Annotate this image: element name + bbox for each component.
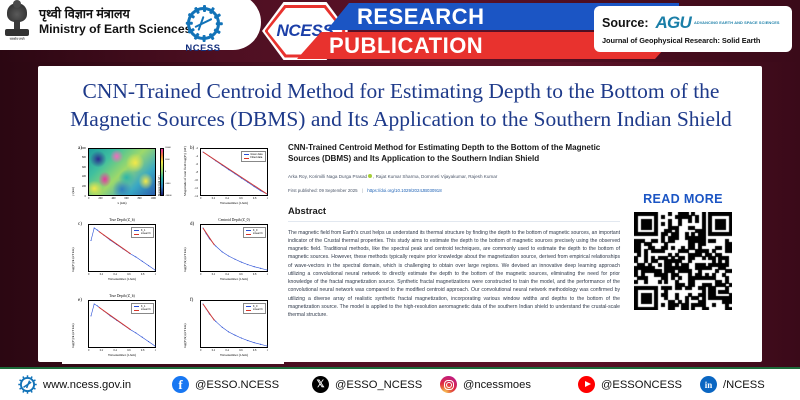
footer-item-label: @ncessmoes xyxy=(463,379,531,391)
facebook-icon[interactable]: f xyxy=(172,376,189,393)
plot-area-f: K_0Linear fit xyxy=(200,300,268,348)
x-tick: 0.6 xyxy=(239,197,242,200)
ministry-name-hindi: पृथ्वी विज्ञान मंत्रालय xyxy=(39,7,191,21)
x-tick: 0.2 xyxy=(212,349,215,352)
x-tick: 0.8 xyxy=(141,349,144,352)
x-axis-label-e: Wavenumber (1/km) xyxy=(88,353,156,357)
footer-item-label: @ESSONCESS xyxy=(601,379,682,391)
ncess-sunwheel-icon xyxy=(187,7,220,40)
plot-area-b: Given dataFitted data xyxy=(200,148,268,196)
abstract-divider xyxy=(288,221,620,222)
agu-tagline: ADVANCING EARTH AND SPACE SCIENCES xyxy=(694,21,780,26)
x-tick: 0.4 xyxy=(113,273,116,276)
read-more-label: READ MORE xyxy=(631,192,735,206)
y-tick: 1000 xyxy=(75,147,86,150)
footer-item-linkedin[interactable]: in/NCESS xyxy=(700,376,765,393)
plot-area-c: K_1Linear fit xyxy=(88,224,156,272)
banner-publication-text: PUBLICATION xyxy=(329,33,483,59)
legend-b: Given dataFitted data xyxy=(241,151,266,163)
abstract-text: The magnetic field from Earth's crust he… xyxy=(288,229,620,320)
x-tick: 1000 xyxy=(151,197,156,200)
x-twitter-icon[interactable]: 𝕏 xyxy=(312,376,329,393)
legend-swatch xyxy=(246,306,251,307)
india-emblem-icon: सत्यमेव जयते xyxy=(4,2,30,42)
x-tick: 0.8 xyxy=(141,273,144,276)
y-tick: -10 xyxy=(187,179,198,182)
linkedin-icon[interactable]: in xyxy=(700,376,717,393)
x-tick: 1 xyxy=(267,197,268,200)
footer-item-label: www.ncess.gov.in xyxy=(43,379,131,391)
ministry-name-english: Ministry of Earth Sciences xyxy=(39,22,191,37)
legend-swatch xyxy=(134,310,139,311)
x-tick: 0 xyxy=(200,273,201,276)
x-tick: 0.2 xyxy=(212,197,215,200)
footer-item-label: @ESSO_NCESS xyxy=(335,379,422,391)
banner-research-text: RESEARCH xyxy=(357,4,484,30)
panel-label-e: e) xyxy=(78,298,82,303)
x-tick: 600 xyxy=(125,197,129,200)
legend-d: K_0Linear fit xyxy=(243,227,265,239)
x-tick: 1 xyxy=(267,273,268,276)
ncess-compass-icon xyxy=(18,375,37,394)
x-ticks-f: 00.20.40.60.81 xyxy=(200,349,268,352)
panel-label-d: d) xyxy=(190,222,194,227)
figure-panel-b: b)Given dataFitted data00.20.40.60.81-14… xyxy=(174,138,282,212)
panel-title-d: Centroid Depth (Z_0) xyxy=(200,218,268,222)
colorbar-tick: -10000 xyxy=(165,195,172,197)
y-axis-label-c: log(|F|)/k (nT km) xyxy=(71,248,75,272)
x-axis-label-d: Wavenumber (1/km) xyxy=(200,277,268,281)
y-tick: 800 xyxy=(75,156,86,159)
x-tick: 0.8 xyxy=(253,273,256,276)
x-tick: 0 xyxy=(88,197,89,200)
x-axis-label-f: Wavenumber (1/km) xyxy=(200,353,268,357)
x-tick: 0.4 xyxy=(225,273,228,276)
instagram-icon[interactable] xyxy=(440,376,457,393)
figure-panel-f: f)K_0Linear fit00.20.40.60.81Wavenumber … xyxy=(174,290,282,364)
figure-panel-c: c)True Depth (Z_b)K_1Linear fit00.20.40.… xyxy=(62,214,170,288)
plot-area-d: K_0Linear fit xyxy=(200,224,268,272)
colorbar-tick: 10000 xyxy=(165,147,171,149)
paper-title: CNN-Trained Centroid Method for Estimati… xyxy=(288,142,620,165)
legend-label: Linear fit xyxy=(253,308,263,312)
source-attribution: Source: AGU ADVANCING EARTH AND SPACE SC… xyxy=(594,6,792,52)
x-axis-label-c: Wavenumber (1/km) xyxy=(88,277,156,281)
ncess-logo-text: NCESS xyxy=(185,42,220,53)
orcid-icon[interactable] xyxy=(368,174,372,178)
y-tick: 200 xyxy=(75,185,86,188)
magnetic-field-heatmap xyxy=(89,149,155,195)
y-tick: 0 xyxy=(75,195,86,198)
x-tick: 0.6 xyxy=(239,273,242,276)
first-published-date: 09 September 2025 xyxy=(319,188,358,193)
legend-swatch xyxy=(246,310,251,311)
legend-swatch xyxy=(246,234,251,235)
x-ticks-c: 00.20.40.60.81 xyxy=(88,273,156,276)
y-axis-label-f: log(|F|/k) (nT km) xyxy=(183,324,187,348)
x-axis-label-a: x (km) xyxy=(88,201,156,205)
ncess-logo: NCESS xyxy=(176,4,230,56)
y-tick: 600 xyxy=(75,166,86,169)
colorbar-tick: 5000 xyxy=(165,159,170,161)
y-tick: -8 xyxy=(187,171,198,174)
panel-label-c: c) xyxy=(78,222,82,227)
x-tick: 0 xyxy=(200,349,201,352)
footer-item-instagram[interactable]: @ncessmoes xyxy=(440,376,531,393)
x-tick: 1 xyxy=(155,273,156,276)
publication-info: First published: 09 September 2025 | htt… xyxy=(288,188,620,193)
agu-wordmark: AGU xyxy=(656,13,691,33)
source-journal-name: Journal of Geophysical Research: Solid E… xyxy=(602,36,784,45)
x-tick: 800 xyxy=(138,197,142,200)
footer-item-facebook[interactable]: f@ESSO.NCESS xyxy=(172,376,279,393)
footer-item-x-twitter[interactable]: 𝕏@ESSO_NCESS xyxy=(312,376,422,393)
footer-item-ncess-compass[interactable]: www.ncess.gov.in xyxy=(18,375,131,394)
y-tick: -12 xyxy=(187,187,198,190)
x-axis-label-b: Wavenumber (1/km) xyxy=(200,201,268,205)
y-tick: -4 xyxy=(187,155,198,158)
y-axis-label-e: log(|F|)/k (nT km) xyxy=(71,324,75,348)
plot-area-e: K_1Linear fit xyxy=(88,300,156,348)
x-tick: 0.2 xyxy=(100,273,103,276)
x-tick: 0 xyxy=(88,273,89,276)
y-axis-label-d: log(|F|/k) (nT km) xyxy=(183,248,187,272)
x-tick: 0.4 xyxy=(225,197,228,200)
x-ticks-b: 00.20.40.60.81 xyxy=(200,197,268,200)
doi-link[interactable]: https://doi.org/10.1029/2024JB030918 xyxy=(367,188,441,193)
figure-panel-e: e)True Depth (Z_b)K_1Linear fit00.20.40.… xyxy=(62,290,170,364)
abstract-heading: Abstract xyxy=(288,205,620,216)
authors-first: Arka Roy, Korimilli Naga Durga Prasad xyxy=(288,174,367,179)
youtube-icon[interactable] xyxy=(578,376,595,393)
x-tick: 0.6 xyxy=(127,273,130,276)
agu-logo: AGU ADVANCING EARTH AND SPACE SCIENCES xyxy=(656,13,780,33)
y-tick: 400 xyxy=(75,175,86,178)
source-label: Source: xyxy=(602,16,649,30)
first-published-label: First published: xyxy=(288,188,318,193)
x-tick: 200 xyxy=(98,197,102,200)
x-tick: 0.2 xyxy=(212,273,215,276)
footer-item-label: @ESSO.NCESS xyxy=(195,379,279,391)
x-tick: 0.8 xyxy=(253,197,256,200)
legend-swatch xyxy=(134,234,139,235)
page-title: CNN-Trained Centroid Method for Estimati… xyxy=(48,78,754,133)
colorbar-label: Magnetic field (nT) xyxy=(158,176,161,196)
y-axis-label-b: Magnitude of total field log(|F|) (nT) xyxy=(183,146,187,196)
paper-summary: CNN-Trained Centroid Method for Estimati… xyxy=(288,142,620,360)
legend-label: Linear fit xyxy=(141,232,151,236)
legend-f: K_0Linear fit xyxy=(243,303,265,315)
y-tick: -14 xyxy=(187,195,198,198)
legend-e: K_1Linear fit xyxy=(131,303,153,315)
legend-swatch xyxy=(244,154,249,155)
x-ticks-e: 00.20.40.60.81 xyxy=(88,349,156,352)
paper-authors: Arka Roy, Korimilli Naga Durga Prasad, R… xyxy=(288,174,620,181)
x-tick: 0.6 xyxy=(239,349,242,352)
colorbar-tick: -5000 xyxy=(165,183,170,185)
footer-item-youtube[interactable]: @ESSONCESS xyxy=(578,376,682,393)
figure-panel-grid: a)-10000-50000500010000Magnetic field (n… xyxy=(62,138,284,364)
legend-swatch xyxy=(134,230,139,231)
legend-swatch xyxy=(134,306,139,307)
x-ticks-a: 02004006008001000 xyxy=(88,197,156,200)
x-tick: 0 xyxy=(88,349,89,352)
legend-label: Linear fit xyxy=(253,232,263,236)
panel-title-c: True Depth (Z_b) xyxy=(88,218,156,222)
y-tick: -6 xyxy=(187,163,198,166)
page-header: सत्यमेव जयते पृथ्वी विज्ञान मंत्रालय Min… xyxy=(0,0,800,62)
legend-label: Linear fit xyxy=(141,308,151,312)
qr-code[interactable] xyxy=(634,212,732,310)
legend-swatch xyxy=(246,230,251,231)
x-tick: 0 xyxy=(200,197,201,200)
x-tick: 400 xyxy=(111,197,115,200)
authors-rest: , Rajat Kumar Sharma, Dommeti Vijayakuma… xyxy=(373,174,497,179)
x-tick: 0.6 xyxy=(127,349,130,352)
legend-c: K_1Linear fit xyxy=(131,227,153,239)
figure-panel-a: a)-10000-50000500010000Magnetic field (n… xyxy=(62,138,170,212)
x-tick: 0.8 xyxy=(253,349,256,352)
x-tick: 0.2 xyxy=(100,349,103,352)
y-axis-label-a: y (km) xyxy=(71,187,75,196)
panel-title-e: True Depth (Z_b) xyxy=(88,294,156,298)
legend-label: Fitted data xyxy=(250,156,262,160)
figure-panel-d: d)Centroid Depth (Z_0)K_0Linear fit00.20… xyxy=(174,214,282,288)
x-tick: 0.4 xyxy=(225,349,228,352)
panel-label-f: f) xyxy=(190,298,193,303)
x-ticks-d: 00.20.40.60.81 xyxy=(200,273,268,276)
footer-item-label: /NCESS xyxy=(723,379,765,391)
x-tick: 1 xyxy=(267,349,268,352)
legend-swatch xyxy=(244,158,249,159)
y-tick: -2 xyxy=(187,147,198,150)
plot-area-a xyxy=(88,148,156,196)
separator: | xyxy=(362,188,363,193)
emblem-motto: सत्यमेव जयते xyxy=(4,36,30,42)
x-tick: 1 xyxy=(155,349,156,352)
social-footer: www.ncess.gov.inf@ESSO.NCESS𝕏@ESSO_NCESS… xyxy=(0,367,800,400)
colorbar-tick: 0 xyxy=(165,171,166,173)
x-tick: 0.4 xyxy=(113,349,116,352)
